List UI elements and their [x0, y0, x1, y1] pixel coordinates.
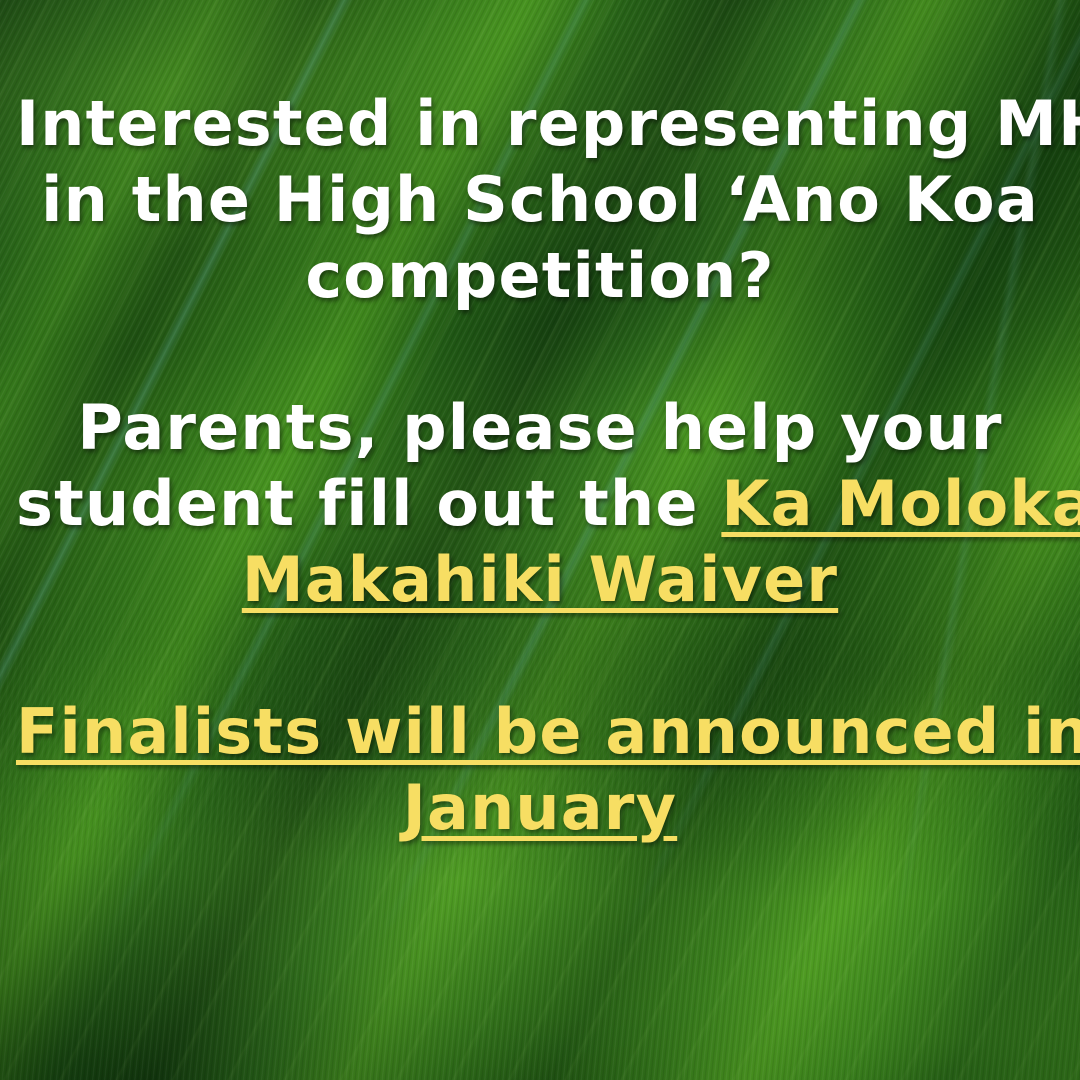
call-to-action-block: Parents, please help your student fill o… [16, 390, 1064, 618]
announcement-poster: Interested in representing MHS in the Hi… [0, 0, 1080, 1080]
announcement-line-2: January [16, 770, 1064, 846]
headline-line-1: Interested in representing MHS [16, 86, 1064, 162]
announcement-line-1: Finalists will be announced in [16, 694, 1064, 770]
headline-line-2: in the High School ‘Ano Koa [16, 162, 1064, 238]
poster-content: Interested in representing MHS in the Hi… [0, 0, 1080, 1080]
waiver-link-part-2[interactable]: Makahiki Waiver [242, 543, 838, 616]
headline-line-3: competition? [16, 238, 1064, 314]
announcement-block: Finalists will be announced in January [16, 694, 1064, 846]
cta-line-2-text: student fill out the [16, 467, 721, 540]
cta-line-1: Parents, please help your [16, 390, 1064, 466]
waiver-link-part-1[interactable]: Ka Molokai [721, 467, 1080, 540]
block-gap-2 [16, 618, 1064, 694]
cta-line-2: student fill out the Ka Molokai [16, 466, 1064, 542]
headline-block: Interested in representing MHS in the Hi… [16, 86, 1064, 314]
block-gap-1 [16, 314, 1064, 390]
cta-line-3: Makahiki Waiver [16, 542, 1064, 618]
